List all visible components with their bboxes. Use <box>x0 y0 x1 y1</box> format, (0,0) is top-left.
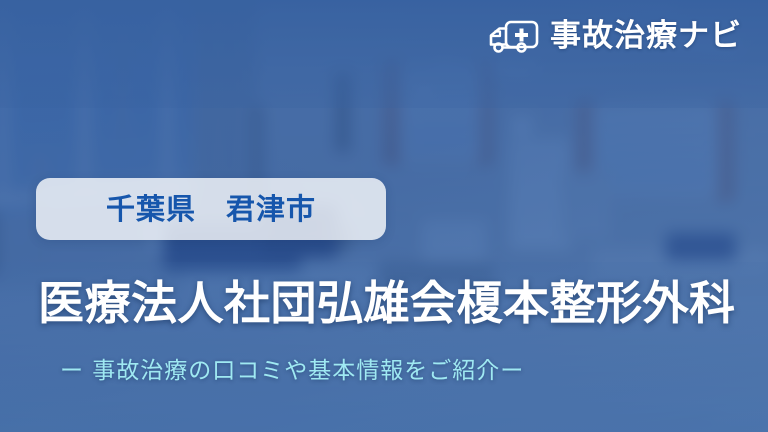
location-badge: 千葉県 君津市 <box>36 178 386 240</box>
ambulance-cross-icon <box>486 16 540 56</box>
page-subtitle: ー 事故治療の口コミや基本情報をご紹介ー <box>60 358 524 386</box>
location-badge-label: 千葉県 君津市 <box>106 195 316 224</box>
site-logo[interactable]: 事故治療ナビ <box>486 16 742 56</box>
hero-banner: 事故治療ナビ 千葉県 君津市 医療法人社団弘雄会榎本整形外科 ー 事故治療の口コ… <box>0 0 768 432</box>
page-title: 医療法人社団弘雄会榎本整形外科 <box>38 278 736 330</box>
logo-text: 事故治療ナビ <box>550 21 742 52</box>
